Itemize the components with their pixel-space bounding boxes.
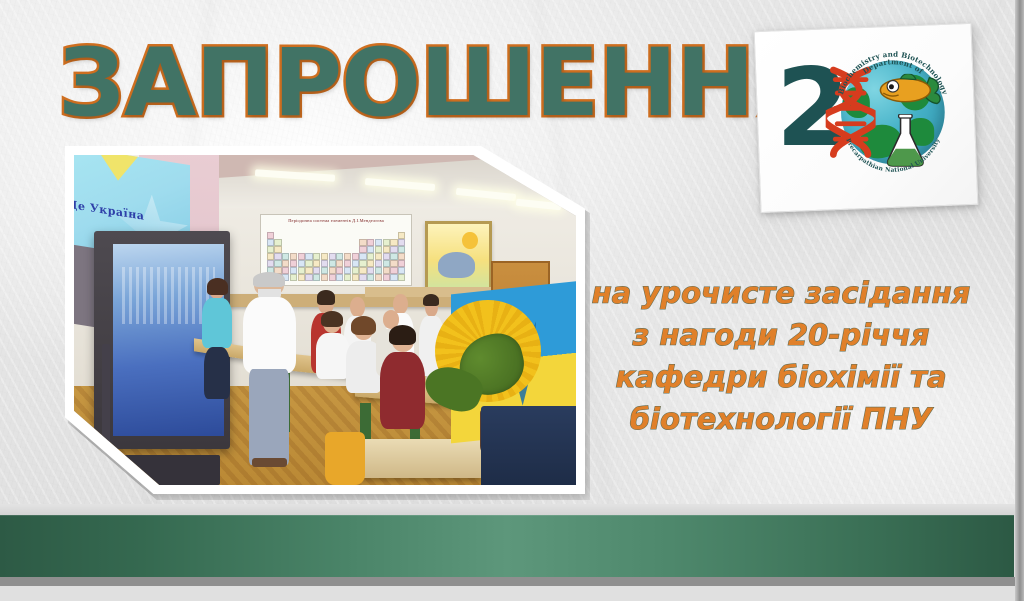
title-block: ЗАПРОШЕННЯ: [58, 28, 748, 140]
invitation-line-2: з нагоди 20-річчя: [578, 314, 984, 356]
anniversary-logo-card: 2: [754, 23, 979, 213]
footer-band: [0, 504, 1024, 601]
invitation-line-3: кафедри біохімії та: [578, 356, 984, 398]
flask-icon: [885, 114, 927, 168]
fish-icon: [879, 74, 942, 107]
footer-band-gray-strip: [0, 577, 1024, 586]
seated-student-red: [380, 330, 425, 429]
slide-right-edge: [1015, 0, 1024, 601]
sunflower: [435, 300, 540, 402]
presenter: [240, 274, 300, 465]
photo-frame: Де Україна Періодична система елементів …: [65, 146, 585, 494]
poster-title: Періодична система елементів Д.І.Менделє…: [261, 218, 412, 223]
footer-band-green: [0, 515, 1014, 577]
slide-canvas: ЗАПРОШЕННЯ Де Україна: [0, 0, 1024, 601]
classroom-photo: Де Україна Періодична система елементів …: [74, 155, 576, 485]
invitation-text-block: на урочисте засідання з нагоди 20-річчя …: [578, 272, 984, 440]
dna-helix-icon: [826, 64, 876, 160]
page-title: ЗАПРОШЕННЯ: [58, 28, 748, 140]
invitation-line-1: на урочисте засідання: [578, 272, 984, 314]
invitation-line-4: біотехнології ПНУ: [578, 398, 984, 440]
footer-band-base: [0, 586, 1024, 601]
wall-painting: [425, 221, 491, 293]
footer-band-top-strip: [0, 504, 1024, 515]
standing-person-left: [200, 280, 235, 399]
projection-caption: Де Україна: [74, 198, 144, 223]
